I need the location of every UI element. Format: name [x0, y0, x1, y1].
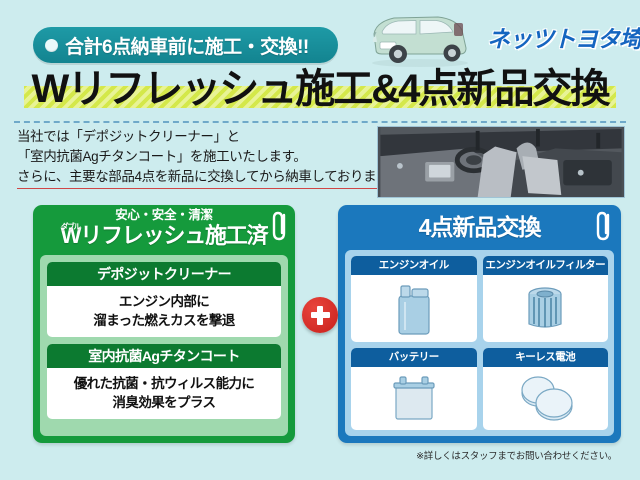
main-title-wrap: Wリフレッシュ施工&4点新品交換 — [0, 66, 640, 112]
oil-filter-icon — [519, 280, 571, 338]
description-line-1: 当社では「デポジットクリーナー」と — [17, 127, 387, 147]
page-title: Wリフレッシュ施工&4点新品交換 — [0, 66, 640, 112]
paperclip-icon — [593, 209, 615, 243]
card-body: エンジン内部に 溜まった燃えカスを撃退 — [47, 286, 281, 337]
ruby-group: ダブル W — [61, 223, 81, 249]
description-line-3: さらに、主要な部品4点を新品に交換してから納車しております! — [17, 167, 393, 189]
card-body-line-2: 溜まった燃えカスを撃退 — [51, 311, 277, 330]
car-photo — [360, 6, 480, 68]
item-icon-wrap — [351, 275, 477, 342]
header: 合計6点納車前に施工・交換!! ネッツトヨタ埼玉 Wリフレッシュ施工&4点新品交… — [0, 0, 640, 112]
coin-battery-icon — [512, 373, 578, 425]
car-interior-photo — [377, 126, 625, 198]
item-label: エンジンオイル — [351, 256, 477, 275]
bullet-dot-icon — [45, 39, 58, 52]
card-ag-titan-coat: 室内抗菌Agチタンコート 優れた抗菌・抗ウィルス能力に 消臭効果をプラス — [47, 344, 281, 419]
left-panel-title: ダブル W リフレッシュ施工済 — [33, 223, 295, 249]
footnote: ※詳しくはスタッフまでお問い合わせください。 — [338, 448, 621, 462]
item-keyless-battery: キーレス電池 — [483, 348, 609, 430]
card-body-line-1: 優れた抗菌・抗ウィルス能力に — [51, 374, 277, 393]
description-block: 当社では「デポジットクリーナー」と 「室内抗菌Agチタンコート」を施工いたします… — [17, 127, 387, 189]
left-panel-header: 安心・安全・清潔 ダブル W リフレッシュ施工済 — [33, 205, 295, 253]
item-oil-filter: エンジンオイルフィルター — [483, 256, 609, 342]
card-body-line-2: 消臭効果をプラス — [51, 393, 277, 412]
left-panel-cards: デポジットクリーナー エンジン内部に 溜まった燃えカスを撃退 室内抗菌Agチタン… — [40, 255, 288, 436]
ruby-text: ダブル — [61, 214, 80, 240]
right-panel-four-item-replacement: 4点新品交換 エンジンオイル エンジンオイルフィルター — [338, 205, 621, 443]
item-icon-wrap — [351, 367, 477, 430]
right-panel-title: 4点新品交換 — [338, 205, 621, 249]
card-title: デポジットクリーナー — [47, 262, 281, 286]
dashed-divider — [14, 121, 626, 123]
paperclip-icon — [269, 209, 291, 243]
item-label: エンジンオイルフィルター — [483, 256, 609, 275]
plus-icon — [302, 297, 338, 333]
battery-icon — [386, 372, 442, 426]
left-panel-w-refresh: 安心・安全・清潔 ダブル W リフレッシュ施工済 デポジットクリーナー エンジン… — [33, 205, 295, 443]
oil-bottle-icon — [388, 280, 440, 338]
dealer-logo: ネッツトヨタ埼玉 — [487, 20, 640, 54]
card-body-line-1: エンジン内部に — [51, 292, 277, 311]
description-line-2: 「室内抗菌Agチタンコート」を施工いたします。 — [17, 147, 387, 167]
item-label: キーレス電池 — [483, 348, 609, 367]
header-badge-text: 合計6点納車前に施工・交換!! — [65, 32, 309, 59]
item-icon-wrap — [483, 275, 609, 342]
header-badge: 合計6点納車前に施工・交換!! — [33, 27, 338, 63]
item-battery: バッテリー — [351, 348, 477, 430]
right-panel-items: エンジンオイル エンジンオイルフィルター — [345, 250, 614, 436]
card-title: 室内抗菌Agチタンコート — [47, 344, 281, 368]
item-label: バッテリー — [351, 348, 477, 367]
promo-banner: 合計6点納車前に施工・交換!! ネッツトヨタ埼玉 Wリフレッシュ施工&4点新品交… — [0, 0, 640, 480]
card-body: 優れた抗菌・抗ウィルス能力に 消臭効果をプラス — [47, 368, 281, 419]
item-icon-wrap — [483, 367, 609, 430]
card-deposit-cleaner: デポジットクリーナー エンジン内部に 溜まった燃えカスを撃退 — [47, 262, 281, 337]
left-panel-title-rest: リフレッシュ施工済 — [80, 223, 267, 248]
item-engine-oil: エンジンオイル — [351, 256, 477, 342]
